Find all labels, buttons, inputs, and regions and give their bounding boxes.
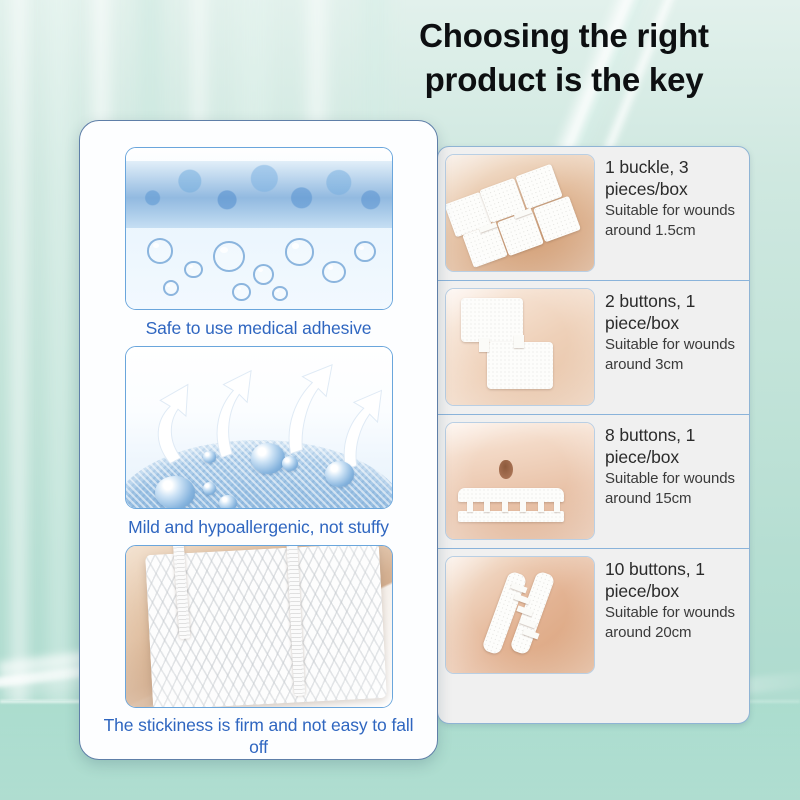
arm-three-patches-photo (445, 154, 595, 272)
variant-subtitle: Suitable for wounds around 20cm (605, 603, 743, 643)
feature-caption: The stickiness is firm and not easy to f… (102, 714, 415, 760)
feature-caption: Safe to use medical adhesive (102, 317, 415, 340)
feature-caption: Mild and hypoallergenic, not stuffy (102, 516, 415, 539)
variants-panel: 1 buckle, 3 pieces/box Suitable for woun… (437, 146, 750, 724)
mesh-bandage-closeup-photo (125, 545, 393, 708)
variant-title: 8 buttons, 1 piece/box (605, 424, 743, 468)
feature-item: The stickiness is firm and not easy to f… (102, 545, 415, 760)
variant-subtitle: Suitable for wounds around 15cm (605, 469, 743, 509)
breathable-mesh-photo (125, 346, 393, 509)
variant-subtitle: Suitable for wounds around 3cm (605, 335, 743, 375)
feature-item: Mild and hypoallergenic, not stuffy (102, 346, 415, 539)
variant-title: 2 buttons, 1 piece/box (605, 290, 743, 334)
leg-long-strip-photo (445, 556, 595, 674)
abdomen-wide-strip-photo (445, 422, 595, 540)
water-bubbles-photo (125, 147, 393, 310)
variant-title: 10 buttons, 1 piece/box (605, 558, 743, 602)
feature-item: Safe to use medical adhesive (102, 147, 415, 340)
variant-row[interactable]: 1 buckle, 3 pieces/box Suitable for woun… (438, 147, 749, 281)
features-card: Safe to use medical adhesive Mild and hy (79, 120, 438, 760)
hand-two-patches-photo (445, 288, 595, 406)
variant-row[interactable]: 8 buttons, 1 piece/box Suitable for woun… (438, 415, 749, 549)
variant-title: 1 buckle, 3 pieces/box (605, 156, 743, 200)
variant-row[interactable]: 2 buttons, 1 piece/box Suitable for woun… (438, 281, 749, 415)
page-title: Choosing the right product is the key (354, 14, 774, 102)
variant-subtitle: Suitable for wounds around 1.5cm (605, 201, 743, 241)
variant-row[interactable]: 10 buttons, 1 piece/box Suitable for wou… (438, 549, 749, 683)
